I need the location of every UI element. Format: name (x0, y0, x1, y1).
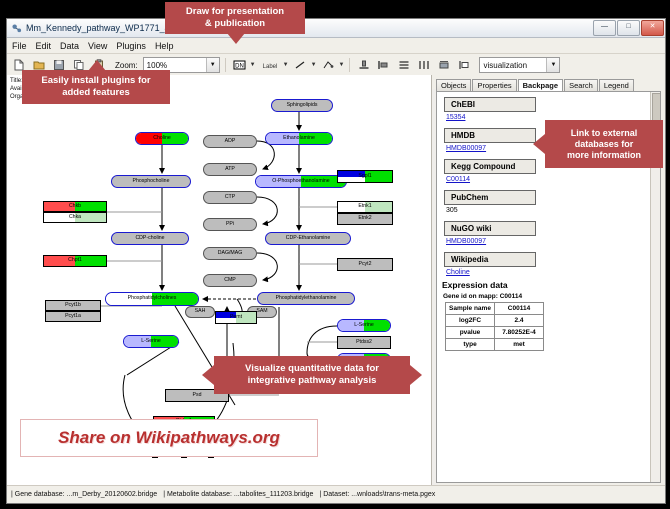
table-row: typemet (446, 339, 544, 351)
db-header-kegg-compound: Kegg Compound (444, 159, 536, 174)
node-label: Sgpl1 (358, 174, 371, 179)
label-dropdown-icon[interactable]: ▼ (283, 62, 289, 68)
gene-node-etnk2[interactable]: Etnk2 (337, 213, 393, 225)
exp-value: C00114 (495, 303, 544, 315)
group-icon[interactable] (435, 57, 452, 74)
node-label: ATP (225, 167, 235, 172)
callout-share-text: Share on Wikipathways.org (58, 428, 280, 448)
tab-search[interactable]: Search (564, 79, 598, 91)
gene-node-pcytlb[interactable]: Pcyt1b (45, 300, 101, 311)
node-label: Pcyt1a (65, 314, 81, 319)
node-label: Phosphatidylcholines (128, 296, 177, 301)
node-label: L-Serine (354, 323, 374, 328)
gene-node-sgpl1[interactable]: Sgpl1 (337, 170, 393, 183)
exp-value: met (495, 339, 544, 351)
node-label: Ptdss2 (356, 340, 372, 345)
db-value-pubchem: 305 (446, 207, 660, 214)
node-label: Ethanolamine (283, 136, 315, 141)
metabolite-node-cdp-choline[interactable]: CDP-choline (111, 232, 189, 245)
exp-key: pvalue (446, 327, 495, 339)
db-value-nugo-wiki[interactable]: HMDB00097 (446, 238, 660, 245)
callout-link: Link to externaldatabases formore inform… (545, 120, 663, 168)
callout-visualize-arrow-right-icon (410, 365, 422, 385)
node-label: L-Serine (141, 339, 161, 344)
node-label: CMP (224, 278, 236, 283)
callout-plugins-text: Easily install plugins foradded features (41, 75, 150, 99)
db-block: WikipediaCholine (437, 247, 660, 276)
gene-node-ptdss2[interactable]: Ptdss2 (337, 336, 391, 349)
metabolite-node-adp[interactable]: ADP (203, 135, 257, 148)
tab-legend[interactable]: Legend (599, 79, 634, 91)
interaction-dropdown-icon[interactable]: ▼ (339, 62, 345, 68)
node-label: CDP-Ethanolamine (286, 236, 330, 241)
metabolite-node-phosphocholine[interactable]: Phosphocholine (111, 175, 191, 188)
node-label: SAH (195, 309, 206, 314)
callout-share: Share on Wikipathways.org (20, 419, 318, 457)
zoom-value: 100% (147, 61, 167, 70)
node-label: Pcyt1b (65, 303, 81, 308)
align-bottom-icon[interactable] (355, 57, 372, 74)
exp-value: 7.80252E-4 (495, 327, 544, 339)
menu-item-plugins[interactable]: Plugins (116, 41, 146, 51)
db-header-pubchem: PubChem (444, 190, 536, 205)
gene-node-chkb[interactable]: Chkb (43, 201, 107, 212)
menu-item-file[interactable]: File (12, 41, 27, 51)
toolbar-separator (225, 58, 226, 72)
toolbar-separator-2 (349, 58, 350, 72)
callout-draw-text: Draw for presentation& publication (186, 6, 284, 30)
window-buttons: — □ ✕ (593, 20, 665, 36)
node-label: ADP (225, 139, 236, 144)
callout-draw-arrow-icon (227, 33, 245, 44)
node-label: PPi (226, 222, 234, 227)
node-label: Chpt1 (68, 258, 82, 263)
node-label: Choline (153, 136, 171, 141)
label-icon[interactable]: Label (259, 57, 281, 74)
close-button[interactable]: ✕ (641, 20, 664, 36)
status-metabolite-database: | Metabolite database: ...tabolites_1112… (163, 491, 313, 498)
visualization-combo[interactable]: visualization ▼ (479, 57, 560, 73)
exp-key: type (446, 339, 495, 351)
metabolite-node-l-serine-right[interactable]: L-Serine (337, 319, 391, 332)
exp-key: log2FC (446, 315, 495, 327)
line-icon[interactable] (292, 57, 309, 74)
line-dropdown-icon[interactable]: ▼ (311, 62, 317, 68)
node-label: Etnk2 (358, 216, 371, 221)
metabolite-node-o-phosphoethanolamine[interactable]: O-Phosphoethanolamine (255, 175, 347, 188)
gene-node-etnk1[interactable]: Etnk1 (337, 201, 393, 213)
metabolite-node-sah[interactable]: SAH (185, 306, 215, 318)
node-label: Chkb (69, 204, 81, 209)
menu-bar: File Edit Data View Plugins Help (7, 38, 665, 54)
table-row: log2FC2.4 (446, 315, 544, 327)
svg-text:Label: Label (262, 64, 277, 70)
node-label: Pemt (230, 315, 242, 320)
metabolite-node-atp[interactable]: ATP (203, 163, 257, 176)
metabolite-node-l-serine-left[interactable]: L-Serine (123, 335, 179, 348)
maximize-button[interactable]: □ (617, 20, 640, 36)
metabolite-node-phosphatidylcholines[interactable]: Phosphatidylcholines (105, 292, 199, 306)
order-icon[interactable] (455, 57, 472, 74)
visualization-value: visualization (483, 61, 527, 70)
gene-node-chka[interactable]: Chka (43, 212, 107, 223)
expression-data-title: Expression data (442, 280, 660, 290)
menu-item-help[interactable]: Help (155, 41, 174, 51)
node-label: O-Phosphoethanolamine (272, 179, 329, 184)
tab-objects[interactable]: Objects (436, 79, 471, 91)
menu-item-data[interactable]: Data (60, 41, 79, 51)
metabolite-node-cmp[interactable]: CMP (203, 274, 257, 287)
gene-id-line: Gene id on mapp: C00114 (443, 293, 660, 300)
menu-item-view[interactable]: View (88, 41, 107, 51)
metabolite-node-dag-mag[interactable]: DAG/MAG (203, 247, 257, 260)
exp-key: Sample name (446, 303, 495, 315)
datanode-icon[interactable]: DN (231, 57, 248, 74)
node-label: Phosphocholine (133, 179, 170, 184)
node-label: Chka (69, 215, 81, 220)
table-row: Sample nameC00114 (446, 303, 544, 315)
db-block: NuGO wikiHMDB00097 (437, 216, 660, 245)
node-label: Psd (193, 393, 202, 398)
db-header-hmdb: HMDB (444, 128, 536, 143)
node-label: DAG/MAG (218, 251, 243, 256)
db-block: PubChem305 (437, 185, 660, 214)
callout-draw: Draw for presentation& publication (165, 2, 305, 34)
node-label: CTP (225, 195, 235, 200)
status-gene-database: | Gene database: ...m_Derby_20120602.bri… (11, 491, 157, 498)
callout-visualize-arrow-icon (202, 365, 214, 385)
callout-visualize: Visualize quantitative data forintegrati… (214, 356, 410, 394)
datanode-dropdown-icon[interactable]: ▼ (250, 62, 256, 68)
zoom-label: Zoom: (115, 61, 138, 70)
side-panel-tabs: ObjectsPropertiesBackpageSearchLegend (436, 77, 661, 92)
callout-link-arrow-icon (533, 134, 545, 154)
node-label: CDP-choline (135, 236, 164, 241)
callout-plugins: Easily install plugins foradded features (22, 70, 170, 104)
tab-properties[interactable]: Properties (472, 79, 516, 91)
menu-item-edit[interactable]: Edit (36, 41, 52, 51)
node-label: Phosphatidylethanolamine (276, 296, 337, 301)
gene-node-pcyt2[interactable]: Pcyt2 (337, 258, 393, 271)
metabolite-node-ethanolamine[interactable]: Ethanolamine (265, 132, 333, 145)
callout-visualize-text: Visualize quantitative data forintegrati… (245, 363, 379, 387)
expression-table: Sample nameC00114log2FC2.4pvalue7.80252E… (445, 302, 544, 351)
status-bar: | Gene database: ...m_Derby_20120602.bri… (7, 485, 665, 503)
metabolite-node-phosphatidylethanolamine[interactable]: Phosphatidylethanolamine (257, 292, 355, 305)
callout-link-text: Link to externaldatabases formore inform… (567, 128, 641, 161)
status-dataset: | Dataset: ...wnloads\trans-meta.pgex (319, 491, 435, 498)
node-label: Pcyt2 (359, 262, 372, 267)
callout-plugins-arrow-icon (88, 60, 106, 71)
minimize-button[interactable]: — (593, 20, 616, 36)
metabolite-node-ctp[interactable]: CTP (203, 191, 257, 204)
table-row: pvalue7.80252E-4 (446, 327, 544, 339)
db-header-wikipedia: Wikipedia (444, 252, 536, 267)
svg-text:DN: DN (235, 64, 244, 70)
metabolite-node-ppi[interactable]: PPi (203, 218, 257, 231)
interaction-icon[interactable] (320, 57, 337, 74)
gene-node-pcytla[interactable]: Pcyt1a (45, 311, 101, 322)
node-label: Etnk1 (358, 204, 371, 209)
node-label: SAM (256, 309, 267, 314)
metabolite-node-cdp-ethanolamine[interactable]: CDP-Ethanolamine (265, 232, 351, 245)
metabolite-node-choline-top[interactable]: Choline (135, 132, 189, 145)
node-label: Sphingolipids (287, 103, 318, 108)
pathvisio-icon (11, 23, 22, 34)
chevron-down-icon[interactable]: ▼ (206, 58, 219, 72)
screenshot-root: Mm_Kennedy_pathway_WP1771_45176.gpml — □… (0, 0, 670, 509)
gene-node-pemt[interactable]: Pemt (215, 311, 257, 324)
gene-node-chpt1[interactable]: Chpt1 (43, 255, 107, 267)
db-value-wikipedia[interactable]: Choline (446, 269, 660, 276)
title-bar: Mm_Kennedy_pathway_WP1771_45176.gpml — □… (7, 19, 665, 38)
db-header-nugo-wiki: NuGO wiki (444, 221, 536, 236)
metabolite-node-sphingolipids[interactable]: Sphingolipids (271, 99, 333, 112)
db-value-kegg-compound[interactable]: C00114 (446, 176, 660, 183)
db-block: ChEBI15354 (437, 92, 660, 121)
visualization-chevron-down-icon[interactable]: ▼ (546, 58, 559, 72)
distribute-icon[interactable] (415, 57, 432, 74)
db-header-chebi: ChEBI (444, 97, 536, 112)
stack-icon[interactable] (395, 57, 412, 74)
exp-value: 2.4 (495, 315, 544, 327)
align-left-icon[interactable] (375, 57, 392, 74)
